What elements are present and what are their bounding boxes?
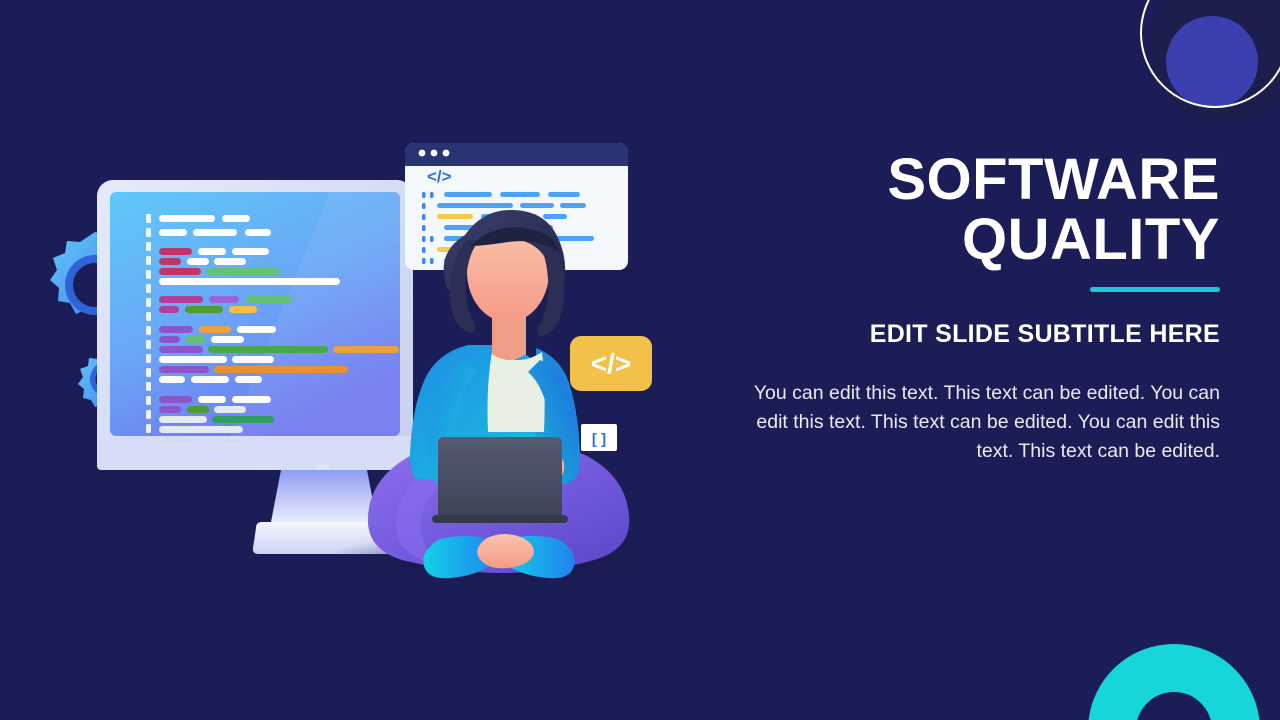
slide-subtitle: EDIT SLIDE SUBTITLE HERE — [740, 320, 1220, 349]
bottom-right-cyan-ring — [1088, 644, 1260, 720]
bracket-badge: [ ] — [581, 424, 617, 451]
title-line-1: SOFTWARE — [887, 147, 1220, 212]
title-line-2: QUALITY — [962, 207, 1220, 272]
code-tag-glyph: </> — [427, 167, 452, 186]
slide-body-text: You can edit this text. This text can be… — [740, 379, 1220, 466]
title-accent-underline — [1090, 287, 1220, 292]
top-right-ring-outline — [1140, 0, 1280, 108]
window-dot-yellow-icon — [431, 150, 438, 157]
desktop-monitor — [97, 180, 413, 554]
code-badge: </> — [570, 336, 652, 391]
code-badge-glyph: </> — [591, 348, 631, 379]
developer-illustration: </> — [0, 0, 700, 720]
slide-canvas: </> — [0, 0, 1280, 720]
page-title: SOFTWARE QUALITY — [740, 150, 1220, 269]
laptop — [432, 437, 568, 523]
window-dot-green-icon — [443, 150, 450, 157]
window-dot-red-icon — [419, 150, 426, 157]
bracket-badge-glyph: [ ] — [592, 431, 606, 448]
text-column: SOFTWARE QUALITY EDIT SLIDE SUBTITLE HER… — [740, 150, 1220, 466]
